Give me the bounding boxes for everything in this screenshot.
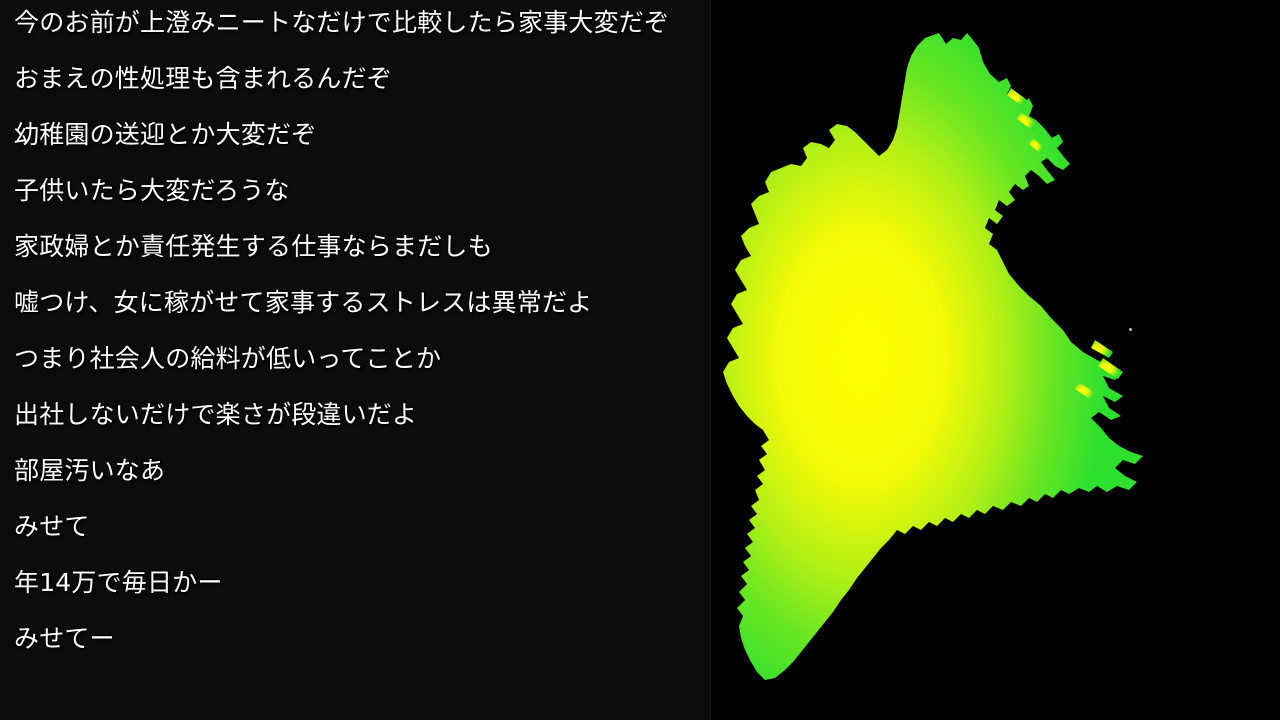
comment-log-panel: 今のお前が上澄みニートなだけで比較したら家事大変だぞ おまえの性処理も含まれるん… xyxy=(0,0,711,720)
comment-item: 今のお前が上澄みニートなだけで比較したら家事大変だぞ xyxy=(14,8,696,37)
map-islet-speck xyxy=(1129,328,1132,331)
comment-item: おまえの性処理も含まれるんだぞ xyxy=(14,64,696,93)
prefecture-map-icon xyxy=(711,0,1280,720)
comment-item: 嘘つけ、女に稼がせて家事するストレスは異常だよ xyxy=(14,288,696,317)
comment-item: 幼稚園の送迎とか大変だぞ xyxy=(14,120,696,149)
comment-item: みせて xyxy=(14,512,696,541)
comment-item: 子供いたら大変だろうな xyxy=(14,176,696,205)
comment-list: 今のお前が上澄みニートなだけで比較したら家事大変だぞ おまえの性処理も含まれるん… xyxy=(14,8,696,653)
comment-item: 部屋汚いなあ xyxy=(14,456,696,485)
comment-item: みせてー xyxy=(14,624,696,653)
map-stage xyxy=(711,0,1280,720)
comment-item: 年14万で毎日かー xyxy=(14,568,696,597)
comment-item: 家政婦とか責任発生する仕事ならまだしも xyxy=(14,232,696,261)
comment-item: つまり社会人の給料が低いってことか xyxy=(14,344,696,373)
comment-item: 出社しないだけで楽さが段違いだよ xyxy=(14,400,696,429)
video-player-stage: 今のお前が上澄みニートなだけで比較したら家事大変だぞ おまえの性処理も含まれるん… xyxy=(0,0,1280,720)
